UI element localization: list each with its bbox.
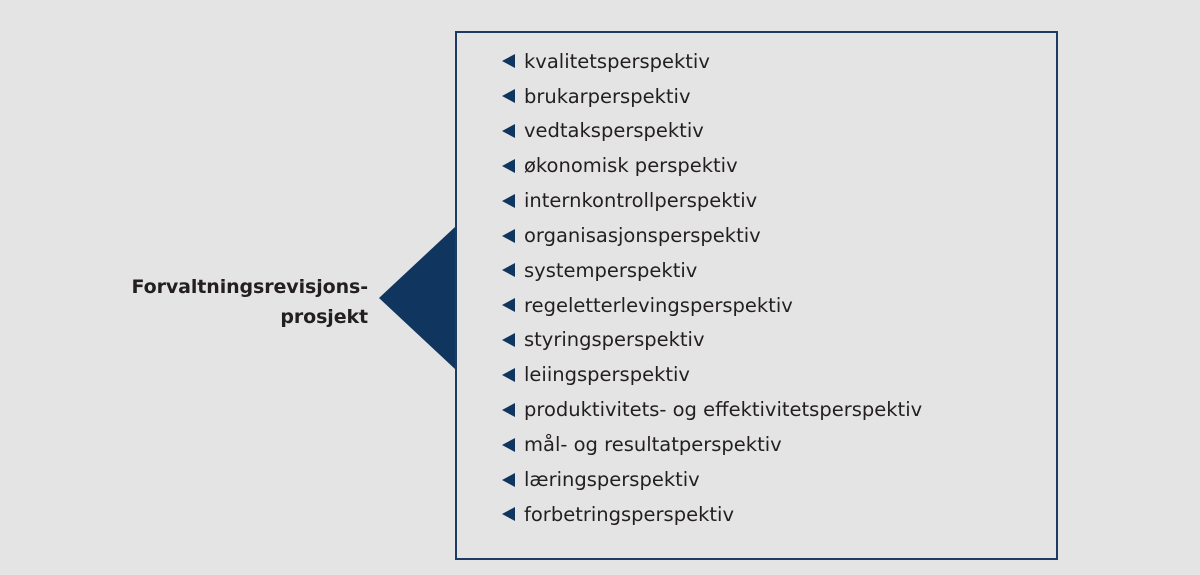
list-item-label: regeletterlevingsperspektiv: [524, 296, 793, 316]
list-item-label: brukarperspektiv: [524, 87, 691, 107]
list-item: brukarperspektiv: [502, 79, 1048, 114]
left-triangle-bullet-icon: [502, 298, 515, 312]
left-triangle-bullet-icon: [502, 333, 515, 347]
list-item: forbetringsperspektiv: [502, 497, 1048, 532]
left-triangle-bullet-icon: [502, 159, 515, 173]
source-label-line-1: Forvaltningsrevisjons-: [100, 272, 368, 302]
list-item-label: internkontrollperspektiv: [524, 191, 757, 211]
left-triangle-bullet-icon: [502, 473, 515, 487]
source-label-line-2: prosjekt: [100, 302, 368, 332]
list-item-label: organisasjonsperspektiv: [524, 226, 761, 246]
left-triangle-bullet-icon: [502, 263, 515, 277]
list-item-label: systemperspektiv: [524, 261, 697, 281]
list-item: kvalitetsperspektiv: [502, 44, 1048, 79]
list-item-label: styringsperspektiv: [524, 330, 705, 350]
perspective-list: kvalitetsperspektiv brukarperspektiv ved…: [502, 44, 1048, 532]
list-item-label: mål- og resultatperspektiv: [524, 435, 782, 455]
list-item: styringsperspektiv: [502, 323, 1048, 358]
left-triangle-bullet-icon: [502, 403, 515, 417]
left-triangle-bullet-icon: [502, 89, 515, 103]
list-item: internkontrollperspektiv: [502, 183, 1048, 218]
left-triangle-bullet-icon: [502, 124, 515, 138]
list-item: vedtaksperspektiv: [502, 114, 1048, 149]
list-item-label: vedtaksperspektiv: [524, 121, 704, 141]
left-pointing-arrow-icon: [379, 227, 455, 369]
left-triangle-bullet-icon: [502, 229, 515, 243]
list-item: organisasjonsperspektiv: [502, 218, 1048, 253]
list-item: mål- og resultatperspektiv: [502, 427, 1048, 462]
left-triangle-bullet-icon: [502, 438, 515, 452]
list-item-label: leiingsperspektiv: [524, 365, 690, 385]
list-item: systemperspektiv: [502, 253, 1048, 288]
list-item: produktivitets- og effektivitetsperspekt…: [502, 392, 1048, 427]
list-item: læringsperspektiv: [502, 462, 1048, 497]
left-triangle-bullet-icon: [502, 368, 515, 382]
diagram-canvas: Forvaltningsrevisjons- prosjekt kvalitet…: [0, 0, 1200, 575]
list-item: økonomisk perspektiv: [502, 149, 1048, 184]
left-triangle-bullet-icon: [502, 507, 515, 521]
left-triangle-bullet-icon: [502, 194, 515, 208]
list-item-label: kvalitetsperspektiv: [524, 52, 710, 72]
list-item-label: forbetringsperspektiv: [524, 505, 734, 525]
list-item-label: læringsperspektiv: [524, 470, 700, 490]
perspective-list-box: kvalitetsperspektiv brukarperspektiv ved…: [455, 31, 1058, 560]
list-item: leiingsperspektiv: [502, 358, 1048, 393]
list-item: regeletterlevingsperspektiv: [502, 288, 1048, 323]
list-item-label: produktivitets- og effektivitetsperspekt…: [524, 400, 922, 420]
source-label: Forvaltningsrevisjons- prosjekt: [100, 272, 368, 332]
list-item-label: økonomisk perspektiv: [524, 156, 738, 176]
left-triangle-bullet-icon: [502, 54, 515, 68]
